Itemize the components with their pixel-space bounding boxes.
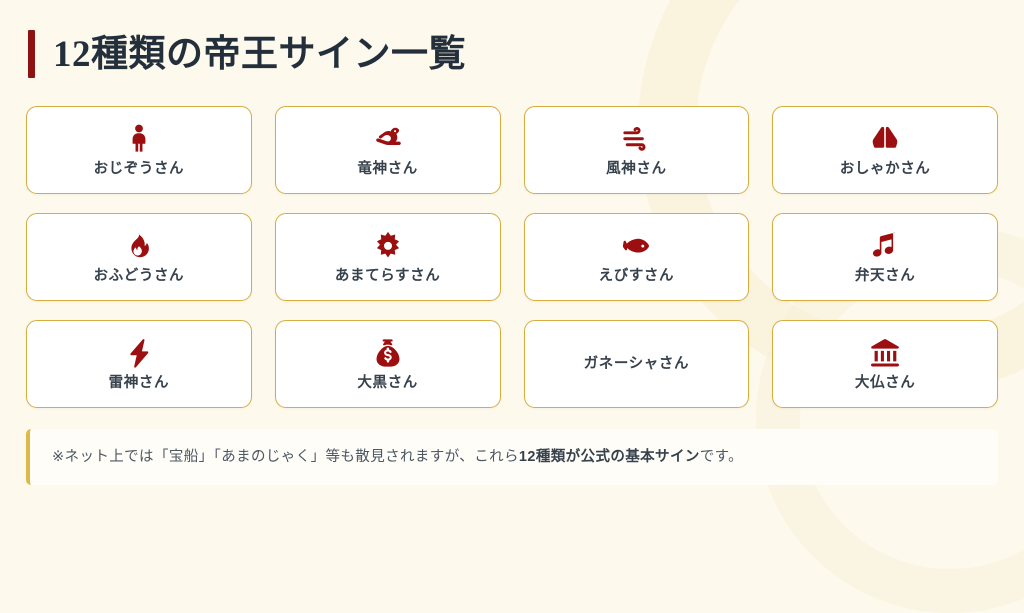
sign-card[interactable]: おふどうさん [26, 213, 252, 301]
wind-icon [620, 123, 652, 155]
sign-card[interactable]: 雷神さん [26, 320, 252, 408]
footer-note-emphasis: 12種類が公式の基本サイン [519, 449, 700, 465]
sign-card[interactable]: ガネーシャさん [524, 320, 750, 408]
sign-card[interactable]: おしゃかさん [772, 106, 998, 194]
sign-card-label: ガネーシャさん [584, 357, 689, 372]
sun-icon [372, 230, 404, 262]
sign-card-label: 雷神さん [109, 376, 169, 391]
sign-card-label: 大仏さん [855, 376, 915, 391]
page-container: 12種類の帝王サイン一覧 おじぞうさん竜神さん風神さんおしゃかさんおふどうさんあ… [0, 0, 1024, 533]
sign-card-label: あまてらすさん [335, 269, 440, 284]
sign-grid: おじぞうさん竜神さん風神さんおしゃかさんおふどうさんあまてらすさんえびすさん弁天… [26, 106, 998, 408]
temple-icon [869, 337, 901, 369]
music-note-icon [869, 230, 901, 262]
sign-card[interactable]: 竜神さん [275, 106, 501, 194]
money-bag-icon [372, 337, 404, 369]
dragon-icon [372, 123, 404, 155]
sign-card-label: おふどうさん [94, 269, 185, 284]
fire-icon [123, 230, 155, 262]
sign-card[interactable]: あまてらすさん [275, 213, 501, 301]
page-heading: 12種類の帝王サイン一覧 [26, 18, 998, 90]
sign-card-label: おじぞうさん [94, 162, 185, 177]
sign-card-label: えびすさん [599, 269, 675, 284]
footer-note-prefix: ※ネット上では「宝船」「あまのじゃく」等も散見されますが、これら [52, 449, 519, 465]
sign-card-label: 風神さん [606, 162, 666, 177]
praying-hands-icon [869, 123, 901, 155]
sign-card-label: おしゃかさん [840, 162, 931, 177]
sign-card-label: 大黒さん [357, 376, 417, 391]
sign-card[interactable]: 大仏さん [772, 320, 998, 408]
sign-card-label: 弁天さん [855, 269, 915, 284]
sign-card[interactable]: 大黒さん [275, 320, 501, 408]
sign-card[interactable]: 弁天さん [772, 213, 998, 301]
sign-card[interactable]: おじぞうさん [26, 106, 252, 194]
lightning-bolt-icon [123, 337, 155, 369]
sign-card[interactable]: えびすさん [524, 213, 750, 301]
page-title: 12種類の帝王サイン一覧 [53, 36, 466, 73]
heading-accent-bar [28, 30, 35, 78]
footer-note-suffix: です。 [700, 449, 743, 465]
sign-card[interactable]: 風神さん [524, 106, 750, 194]
person-icon [123, 123, 155, 155]
footer-note: ※ネット上では「宝船」「あまのじゃく」等も散見されますが、これら12種類が公式の… [26, 429, 998, 485]
sign-card-label: 竜神さん [357, 162, 417, 177]
fish-icon [620, 230, 652, 262]
footer-note-text: ※ネット上では「宝船」「あまのじゃく」等も散見されますが、これら12種類が公式の… [52, 447, 743, 467]
